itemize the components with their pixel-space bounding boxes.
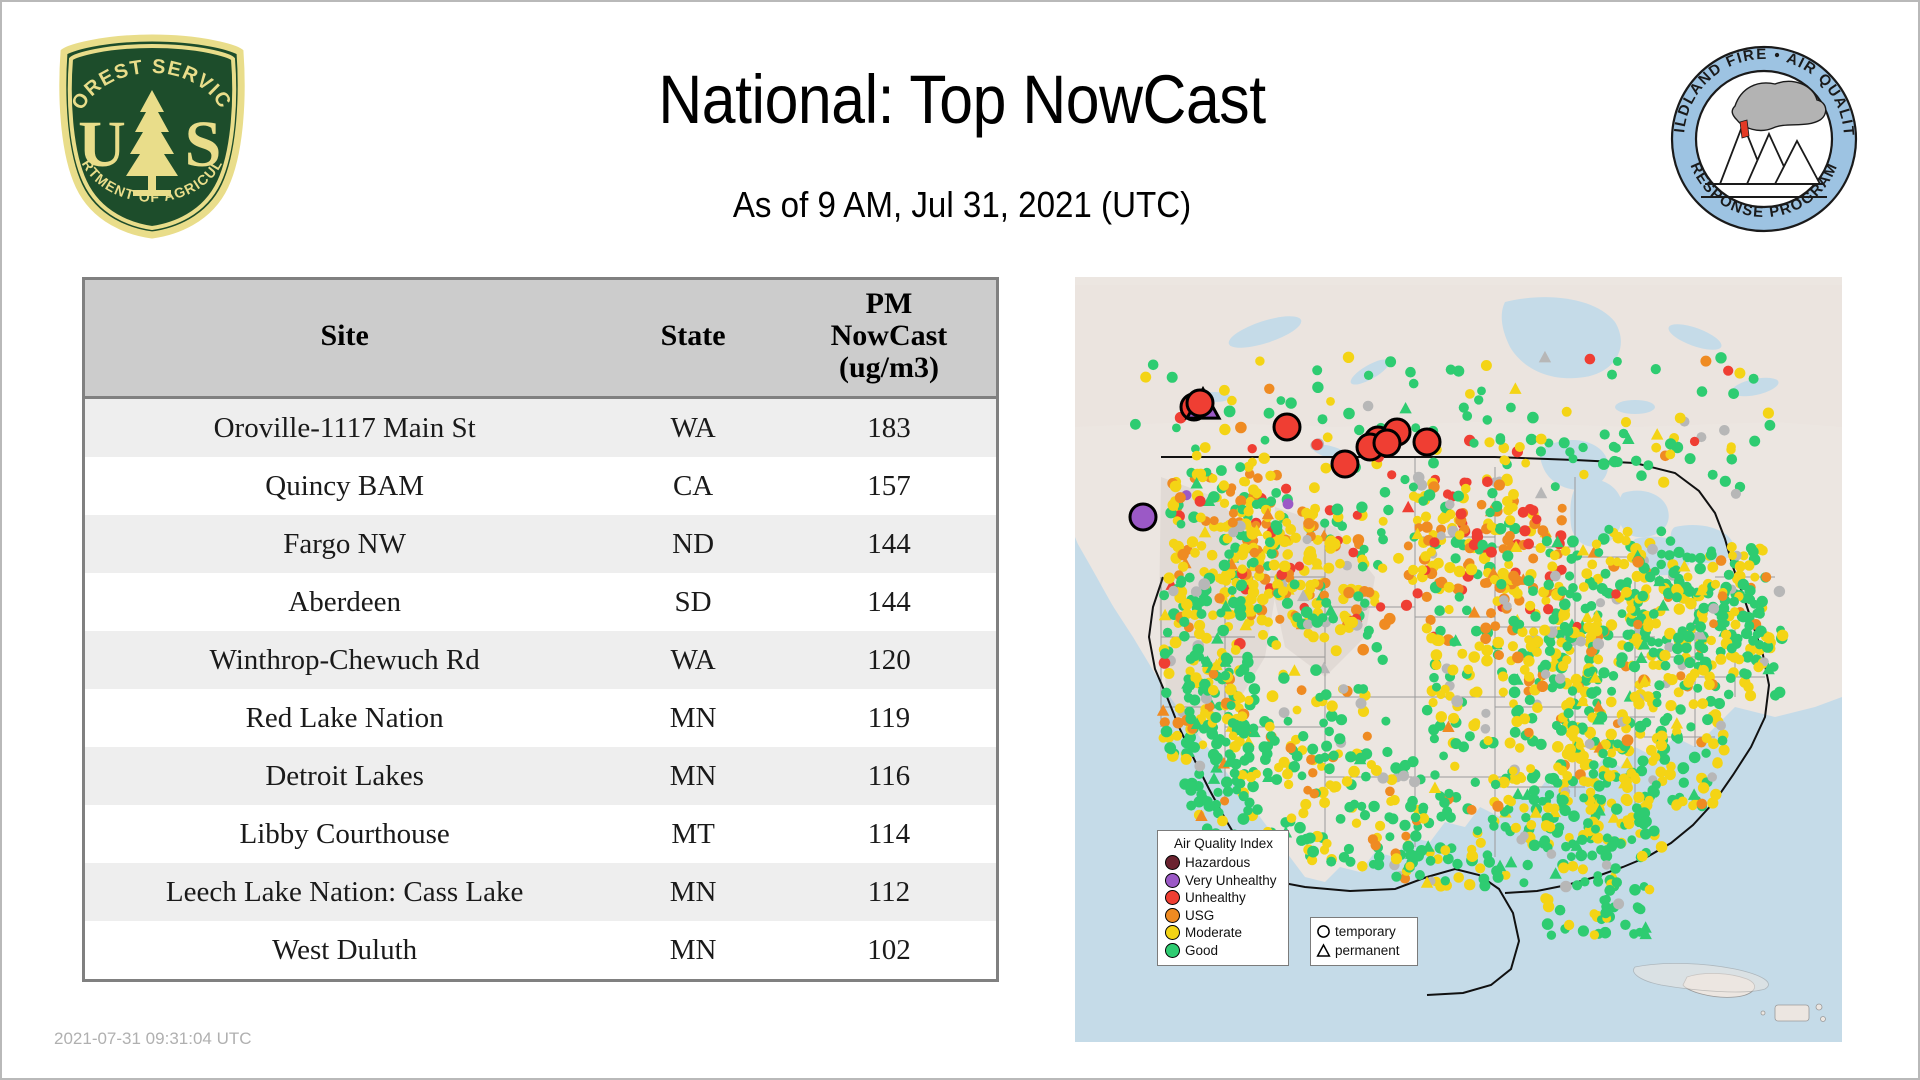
generated-timestamp: 2021-07-31 09:31:04 UTC bbox=[54, 1029, 252, 1049]
table-row: AberdeenSD144 bbox=[85, 573, 996, 631]
aqi-monitor-dot bbox=[1409, 776, 1420, 787]
aqi-monitor-dot bbox=[1558, 609, 1570, 621]
aqi-monitor-dot bbox=[1381, 717, 1390, 726]
cell-pm-nowcast: 144 bbox=[782, 515, 996, 573]
aqi-monitor-dot bbox=[1476, 838, 1486, 848]
aqi-monitor-dot bbox=[1315, 754, 1325, 764]
aqi-monitor-dot bbox=[1175, 492, 1186, 503]
aqi-monitor-dot bbox=[1475, 863, 1485, 873]
cell-pm-nowcast: 144 bbox=[782, 573, 996, 631]
aqi-monitor-dot bbox=[1505, 738, 1516, 749]
aqi-monitor-dot bbox=[1672, 799, 1683, 810]
aqi-monitor-dot bbox=[1698, 665, 1709, 676]
aqi-monitor-dot bbox=[1248, 444, 1257, 453]
aqi-monitor-dot bbox=[1160, 718, 1169, 727]
aqi-monitor-dot bbox=[1307, 744, 1318, 755]
aqi-monitor-dot bbox=[1480, 623, 1491, 634]
aqi-monitor-dot bbox=[1528, 505, 1538, 515]
cell-pm-nowcast: 112 bbox=[782, 863, 996, 921]
aqi-monitor-dot bbox=[1525, 695, 1535, 705]
aqi-monitor-dot bbox=[1320, 519, 1329, 528]
aqi-monitor-dot bbox=[1480, 578, 1490, 588]
aqi-monitor-dot bbox=[1439, 798, 1450, 809]
aqi-monitor-dot bbox=[1273, 525, 1283, 535]
aqi-monitor-dot bbox=[1637, 851, 1648, 862]
legend-item-hazardous: Hazardous bbox=[1165, 854, 1282, 872]
aqi-monitor-dot bbox=[1600, 927, 1612, 939]
cell-state: WA bbox=[604, 631, 782, 689]
aqi-monitor-dot bbox=[1447, 665, 1458, 676]
aqi-monitor-dot bbox=[1253, 473, 1263, 483]
aqi-monitor-dot bbox=[1376, 602, 1385, 611]
aqi-monitor-dot bbox=[1284, 717, 1293, 726]
aqi-monitor-dot bbox=[1227, 701, 1236, 710]
cell-pm-nowcast: 116 bbox=[782, 747, 996, 805]
aqi-monitor-dot bbox=[1334, 733, 1345, 744]
table-row: Detroit LakesMN116 bbox=[85, 747, 996, 805]
aqi-monitor-dot bbox=[1452, 859, 1462, 869]
aqi-monitor-dot bbox=[1278, 672, 1289, 683]
aqi-monitor-dot bbox=[1777, 630, 1789, 642]
aqi-monitor-dot bbox=[1279, 707, 1290, 718]
aqi-monitor-dot bbox=[1192, 451, 1202, 461]
aqi-monitor-dot bbox=[1210, 516, 1219, 525]
legend-label-permanent: permanent bbox=[1335, 943, 1400, 958]
legend-label: Hazardous bbox=[1185, 855, 1250, 870]
aqi-monitor-dot bbox=[1294, 822, 1306, 834]
aqi-monitor-dot bbox=[1204, 801, 1215, 812]
aqi-monitor-dot bbox=[1654, 680, 1664, 690]
aqi-monitor-dot bbox=[1638, 591, 1649, 602]
aqi-monitor-dot bbox=[1665, 700, 1676, 711]
aqi-monitor-dot bbox=[1429, 673, 1439, 683]
aqi-monitor-dot bbox=[1385, 787, 1395, 797]
aqi-monitor-dot bbox=[1444, 582, 1455, 593]
aqi-monitor-dot bbox=[1297, 685, 1307, 695]
aqi-monitor-dot bbox=[1248, 580, 1258, 590]
aqi-monitor-dot bbox=[1283, 549, 1293, 559]
aqi-monitor-dot bbox=[1387, 813, 1398, 824]
cell-pm-nowcast: 157 bbox=[782, 457, 996, 515]
aqi-monitor-dot bbox=[1596, 598, 1605, 607]
aqi-monitor-dot bbox=[1544, 580, 1554, 590]
aqi-monitor-dot bbox=[1697, 799, 1708, 810]
aqi-monitor-dot bbox=[1690, 437, 1699, 446]
aqi-monitor-dot bbox=[1326, 780, 1335, 789]
aqi-monitor-dot bbox=[1629, 929, 1639, 939]
aqi-monitor-dot bbox=[1591, 825, 1600, 834]
aqi-monitor-dot bbox=[1555, 905, 1566, 916]
aqi-monitor-dot bbox=[1371, 840, 1381, 850]
aqi-monitor-dot bbox=[1538, 525, 1549, 536]
aqi-monitor-dot bbox=[1494, 479, 1505, 490]
aqi-monitor-dot bbox=[1519, 878, 1528, 887]
aqi-monitor-dot bbox=[1259, 741, 1271, 753]
aqi-monitor-dot bbox=[1437, 531, 1446, 540]
aqi-monitor-dot bbox=[1196, 513, 1206, 523]
aqi-monitor-dot bbox=[1699, 603, 1710, 614]
aqi-monitor-dot bbox=[1221, 778, 1230, 787]
aqi-monitor-dot bbox=[1361, 772, 1371, 782]
aqi-monitor-dot bbox=[1278, 586, 1288, 596]
aqi-monitor-dot bbox=[1303, 619, 1313, 629]
aqi-monitor-dot bbox=[1424, 489, 1436, 501]
aqi-monitor-dot bbox=[1197, 609, 1207, 619]
aqi-monitor-dot bbox=[1618, 609, 1627, 618]
aqi-monitor-dot bbox=[1695, 553, 1706, 564]
aqi-monitor-dot bbox=[1448, 713, 1459, 724]
aqi-monitor-dot bbox=[1666, 536, 1676, 546]
aqi-monitor-dot bbox=[1324, 727, 1334, 737]
aqi-monitor-dot bbox=[1398, 771, 1409, 782]
aqi-monitor-dot bbox=[1318, 414, 1328, 424]
aqi-monitor-dot bbox=[1579, 793, 1588, 802]
aqi-monitor-dot bbox=[1380, 487, 1391, 498]
aqi-monitor-dot bbox=[1707, 636, 1716, 645]
aqi-monitor-dot bbox=[1358, 562, 1368, 572]
aqi-monitor-dot bbox=[1221, 671, 1231, 681]
aqi-monitor-dot bbox=[1550, 571, 1561, 582]
aqi-monitor-dot bbox=[1283, 499, 1294, 510]
aqi-monitor-dot bbox=[1656, 526, 1666, 536]
aqi-monitor-dot bbox=[1658, 477, 1669, 488]
aqi-monitor-dot bbox=[1739, 668, 1749, 678]
aqi-monitor-dot bbox=[1594, 548, 1603, 557]
aqi-monitor-dot bbox=[1519, 713, 1530, 724]
aqi-monitor-dot bbox=[1263, 617, 1273, 627]
aqi-monitor-dot bbox=[1699, 644, 1708, 653]
aqi-monitor-dot bbox=[1428, 458, 1439, 469]
aqi-monitor-dot bbox=[1623, 630, 1633, 640]
top-site-marker[interactable] bbox=[1374, 430, 1400, 456]
aqi-monitor-dot bbox=[1645, 572, 1656, 583]
column-header-pm-nowcast: PM NowCast (ug/m3) bbox=[782, 280, 996, 398]
aqi-monitor-dot bbox=[1342, 535, 1351, 544]
aqi-monitor-dot bbox=[1684, 657, 1695, 668]
aqi-monitor-dot bbox=[1187, 781, 1196, 790]
aqi-monitor-dot bbox=[1236, 596, 1246, 606]
aqi-monitor-dot bbox=[1679, 778, 1689, 788]
aqi-monitor-dot bbox=[1326, 535, 1337, 546]
aqi-monitor-dot bbox=[1451, 695, 1463, 707]
aqi-monitor-dot bbox=[1645, 796, 1654, 805]
aqi-monitor-dot bbox=[1279, 757, 1290, 768]
aqi-monitor-dot bbox=[1657, 550, 1666, 559]
aqi-monitor-dot bbox=[1312, 382, 1323, 393]
aqi-monitor-dot bbox=[1492, 801, 1503, 812]
aqi-monitor-dot bbox=[1633, 792, 1644, 803]
aqi-monitor-dot bbox=[1271, 488, 1281, 498]
aqi-monitor-dot bbox=[1176, 578, 1186, 588]
aqi-monitor-dot bbox=[1220, 499, 1229, 508]
aqi-monitor-dot bbox=[1505, 515, 1515, 525]
aqi-monitor-dot bbox=[1159, 657, 1171, 669]
aqi-monitor-dot bbox=[1179, 617, 1189, 627]
aqi-monitor-dot bbox=[1303, 535, 1312, 544]
top-site-marker[interactable] bbox=[1332, 451, 1358, 477]
aqi-monitor-dot bbox=[1399, 820, 1410, 831]
aqi-monitor-dot bbox=[1660, 716, 1670, 726]
top-site-marker[interactable] bbox=[1130, 504, 1156, 530]
aqi-monitor-dot bbox=[1579, 697, 1588, 706]
aqi-monitor-dot bbox=[1578, 925, 1589, 936]
aqi-monitor-dot bbox=[1707, 772, 1717, 782]
aqi-monitor-dot bbox=[1707, 546, 1716, 555]
aqi-monitor-dot bbox=[1567, 554, 1577, 564]
top-site-marker[interactable] bbox=[1274, 414, 1300, 440]
aqi-monitor-dot bbox=[1130, 419, 1141, 430]
aqi-monitor-dot bbox=[1484, 736, 1493, 745]
aqi-monitor-dot bbox=[1491, 780, 1500, 789]
legend-label-temporary: temporary bbox=[1335, 924, 1396, 939]
aqi-monitor-dot bbox=[1282, 598, 1293, 609]
aqi-monitor-dot bbox=[1201, 633, 1212, 644]
aqi-monitor-dot bbox=[1526, 434, 1537, 445]
aqi-monitor-dot bbox=[1179, 631, 1190, 642]
aqi-monitor-dot bbox=[1194, 761, 1205, 772]
aqi-monitor-dot bbox=[1267, 549, 1277, 559]
aqi-monitor-dot bbox=[1542, 536, 1552, 546]
table-row: Quincy BAMCA157 bbox=[85, 457, 996, 515]
cell-site: Leech Lake Nation: Cass Lake bbox=[85, 863, 604, 921]
aqi-monitor-dot bbox=[1672, 592, 1682, 602]
aqi-monitor-dot bbox=[1555, 673, 1566, 684]
aqi-monitor-dot bbox=[1422, 592, 1432, 602]
aqi-monitor-dot bbox=[1408, 565, 1418, 575]
aqi-monitor-dot bbox=[1266, 496, 1276, 506]
top-site-marker[interactable] bbox=[1187, 390, 1213, 416]
aqi-monitor-dot bbox=[1577, 835, 1587, 845]
aqi-monitor-dot bbox=[1183, 685, 1193, 695]
aqi-monitor-dot bbox=[1524, 672, 1534, 682]
aqi-monitor-dot bbox=[1216, 465, 1227, 476]
aqi-monitor-dot bbox=[1509, 767, 1518, 776]
aqi-monitor-dot bbox=[1707, 797, 1718, 808]
aqi-monitor-dot bbox=[1695, 563, 1706, 574]
aqi-monitor-dot bbox=[1716, 721, 1726, 731]
aqi-monitor-dot bbox=[1753, 662, 1763, 672]
aqi-monitor-dot bbox=[1368, 801, 1379, 812]
aqi-monitor-dot bbox=[1163, 572, 1174, 583]
aqi-monitor-dot bbox=[1561, 842, 1571, 852]
aqi-monitor-dot bbox=[1263, 768, 1273, 778]
aqi-monitor-dot bbox=[1466, 564, 1478, 576]
aqi-monitor-dot bbox=[1499, 688, 1508, 697]
cell-site: Winthrop-Chewuch Rd bbox=[85, 631, 604, 689]
aqi-monitor-dot bbox=[1265, 471, 1275, 481]
aqi-monitor-dot bbox=[1271, 774, 1282, 785]
aqi-monitor-dot bbox=[1453, 491, 1464, 502]
aqi-monitor-dot bbox=[1647, 637, 1656, 646]
aqi-monitor-dot bbox=[1270, 736, 1280, 746]
cell-site: Libby Courthouse bbox=[85, 805, 604, 863]
aqi-monitor-dot bbox=[1749, 436, 1760, 447]
aqi-monitor-dot bbox=[1731, 620, 1741, 630]
aqi-monitor-dot bbox=[1486, 608, 1496, 618]
aqi-monitor-dot bbox=[1515, 743, 1525, 753]
aqi-monitor-dot bbox=[1684, 586, 1695, 597]
aqi-monitor-dot bbox=[1484, 437, 1494, 447]
aqi-monitor-dot bbox=[1724, 570, 1734, 580]
aqi-monitor-dot bbox=[1329, 751, 1339, 761]
aqi-monitor-dot bbox=[1457, 649, 1467, 659]
aqi-monitor-dot bbox=[1255, 565, 1264, 574]
table-row: Red Lake NationMN119 bbox=[85, 689, 996, 747]
top-site-marker[interactable] bbox=[1414, 429, 1440, 455]
aqi-color-swatch-icon bbox=[1165, 908, 1180, 923]
aqi-monitor-dot bbox=[1663, 673, 1672, 682]
aqi-monitor-dot bbox=[1481, 645, 1493, 657]
aqi-monitor-dot bbox=[1547, 849, 1557, 859]
aqi-monitor-dot bbox=[1616, 839, 1626, 849]
aqi-monitor-dot bbox=[1238, 564, 1247, 573]
aqi-monitor-dot bbox=[1477, 540, 1488, 551]
column-header-site: Site bbox=[85, 280, 604, 398]
aqi-monitor-dot bbox=[1235, 668, 1244, 677]
aqi-monitor-dot bbox=[1493, 637, 1505, 649]
aqi-monitor-dot bbox=[1632, 571, 1642, 581]
aqi-monitor-dot bbox=[1744, 585, 1755, 596]
aqi-monitor-dot bbox=[1161, 688, 1171, 698]
aqi-monitor-dot bbox=[1326, 763, 1335, 772]
aqi-monitor-dot bbox=[1360, 599, 1369, 608]
aqi-monitor-dot bbox=[1536, 446, 1546, 456]
aqi-monitor-dot bbox=[1634, 903, 1644, 913]
aqi-monitor-dot bbox=[1434, 605, 1445, 616]
aqi-monitor-dot bbox=[1527, 641, 1536, 650]
aqi-monitor-dot bbox=[1401, 600, 1412, 611]
aqi-monitor-dot bbox=[1258, 630, 1268, 640]
aqi-monitor-dot bbox=[1463, 665, 1473, 675]
aqi-monitor-dot bbox=[1321, 741, 1332, 752]
aqi-monitor-dot bbox=[1336, 714, 1347, 725]
aqi-monitor-dot bbox=[1741, 628, 1752, 639]
aqi-monitor-dot bbox=[1643, 460, 1653, 470]
aqi-monitor-dot bbox=[1265, 722, 1275, 732]
aqi-monitor-dot bbox=[1244, 506, 1254, 516]
aqi-monitor-dot bbox=[1743, 682, 1753, 692]
aqi-monitor-dot bbox=[1547, 931, 1556, 940]
aqi-monitor-dot bbox=[1356, 698, 1367, 709]
aqi-monitor-dot bbox=[1651, 752, 1660, 761]
aqi-monitor-dot bbox=[1763, 632, 1774, 643]
aqi-monitor-dot bbox=[1579, 776, 1589, 786]
aqi-monitor-dot bbox=[1393, 553, 1404, 564]
legend-item-unhealthy: Unhealthy bbox=[1165, 889, 1282, 907]
aqi-monitor-dot bbox=[1236, 694, 1245, 703]
aqi-monitor-dot bbox=[1285, 524, 1296, 535]
aqi-monitor-dot bbox=[1312, 616, 1324, 628]
aqi-monitor-dot bbox=[1701, 749, 1710, 758]
aqi-monitor-dot bbox=[1440, 845, 1450, 855]
aqi-monitor-dot bbox=[1255, 356, 1264, 365]
aqi-monitor-dot bbox=[1411, 813, 1421, 823]
aqi-monitor-dot bbox=[1336, 814, 1346, 824]
aqi-monitor-dot bbox=[1298, 771, 1307, 780]
aqi-monitor-dot bbox=[1199, 724, 1209, 734]
report-page: FOREST SERVICE U S DEPARTMENT OF AGRICUL… bbox=[0, 0, 1920, 1080]
aqi-monitor-dot bbox=[1665, 450, 1675, 460]
aqi-monitor-dot bbox=[1279, 536, 1290, 547]
site-type-legend: temporary permanent bbox=[1310, 917, 1418, 966]
aqi-monitor-dot bbox=[1405, 862, 1414, 871]
aqi-monitor-dot bbox=[1264, 408, 1275, 419]
aqi-monitor-dot bbox=[1645, 885, 1655, 895]
aqi-monitor-dot bbox=[1235, 462, 1245, 472]
national-aqi-map[interactable]: Air Quality Index HazardousVery Unhealth… bbox=[1075, 277, 1842, 1042]
aqi-monitor-dot bbox=[1689, 752, 1701, 764]
aqi-monitor-dot bbox=[1630, 543, 1642, 555]
cell-state: WA bbox=[604, 398, 782, 458]
aqi-monitor-dot bbox=[1378, 535, 1388, 545]
aqi-monitor-dot bbox=[1636, 470, 1647, 481]
aqi-monitor-dot bbox=[1757, 596, 1768, 607]
aqi-monitor-dot bbox=[1208, 610, 1218, 620]
aqi-monitor-dot bbox=[1219, 385, 1230, 396]
aqi-monitor-dot bbox=[1560, 805, 1571, 816]
aqi-monitor-dot bbox=[1246, 772, 1256, 782]
aqi-monitor-dot bbox=[1661, 661, 1671, 671]
aqi-monitor-dot bbox=[1495, 523, 1506, 534]
aqi-monitor-dot bbox=[1727, 643, 1737, 653]
aqi-monitor-dot bbox=[1592, 832, 1603, 843]
aqi-legend-title: Air Quality Index bbox=[1165, 836, 1282, 851]
aqi-monitor-dot bbox=[1622, 815, 1632, 825]
aqi-monitor-dot bbox=[1197, 541, 1207, 551]
aqi-monitor-dot bbox=[1526, 764, 1535, 773]
aqi-monitor-dot bbox=[1181, 599, 1192, 610]
aqi-monitor-dot bbox=[1260, 754, 1271, 765]
aqi-monitor-dot bbox=[1508, 489, 1519, 500]
aqi-monitor-dot bbox=[1727, 542, 1737, 552]
aqi-monitor-dot bbox=[1207, 550, 1218, 561]
aqi-monitor-dot bbox=[1659, 650, 1670, 661]
aqi-monitor-dot bbox=[1244, 696, 1253, 705]
aqi-monitor-dot bbox=[1332, 504, 1344, 516]
aqi-monitor-dot bbox=[1429, 537, 1439, 547]
aqi-monitor-dot bbox=[1501, 822, 1511, 832]
aqi-monitor-dot bbox=[1430, 770, 1439, 779]
aqi-monitor-dot bbox=[1674, 603, 1685, 614]
aqi-monitor-dot bbox=[1352, 819, 1361, 828]
aqi-monitor-dot bbox=[1301, 606, 1313, 618]
aqi-monitor-dot bbox=[1456, 509, 1467, 520]
aqi-monitor-dot bbox=[1410, 830, 1421, 841]
aqi-monitor-dot bbox=[1474, 395, 1483, 404]
aqi-monitor-dot bbox=[1521, 459, 1530, 468]
aqi-monitor-dot bbox=[1564, 708, 1574, 718]
aqi-monitor-dot bbox=[1726, 673, 1736, 683]
aqi-monitor-dot bbox=[1517, 774, 1526, 783]
aqi-monitor-dot bbox=[1378, 564, 1387, 573]
aqi-monitor-dot bbox=[1609, 442, 1619, 452]
aqi-monitor-dot bbox=[1536, 434, 1547, 445]
aqi-monitor-dot bbox=[1620, 920, 1630, 930]
cell-state: MT bbox=[604, 805, 782, 863]
aqi-monitor-dot bbox=[1711, 580, 1720, 589]
aqi-monitor-dot bbox=[1243, 742, 1255, 754]
aqi-monitor-dot bbox=[1675, 413, 1686, 424]
aqi-monitor-dot bbox=[1405, 367, 1416, 378]
aqi-monitor-dot bbox=[1422, 705, 1433, 716]
aqi-monitor-dot bbox=[1431, 660, 1441, 670]
aqi-monitor-dot bbox=[1746, 543, 1757, 554]
aqi-monitor-dot bbox=[1496, 435, 1506, 445]
aqi-monitor-dot bbox=[1479, 874, 1490, 885]
aqi-monitor-dot bbox=[1719, 745, 1730, 756]
aqi-monitor-dot bbox=[1632, 556, 1644, 568]
aqi-monitor-dot bbox=[1467, 850, 1479, 862]
